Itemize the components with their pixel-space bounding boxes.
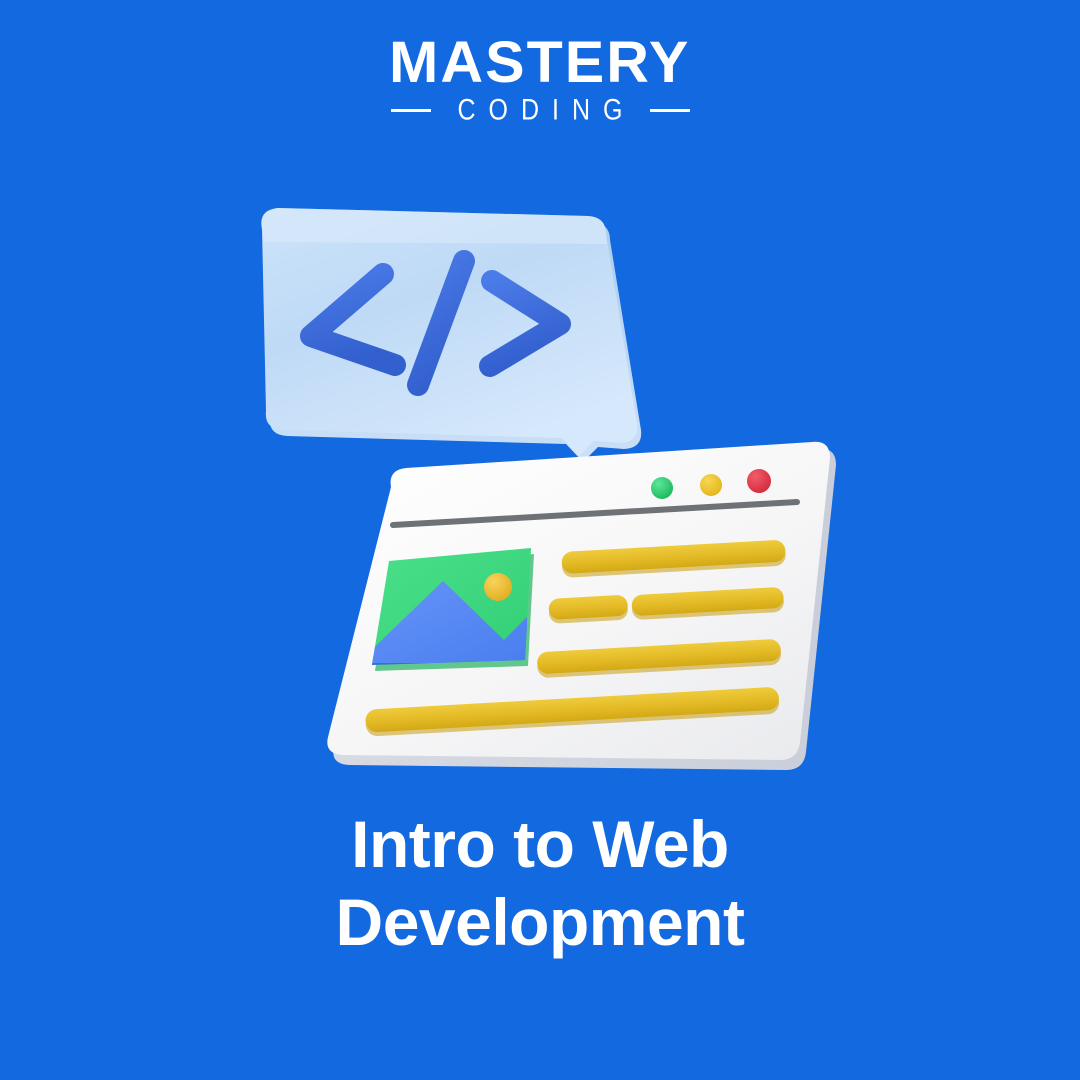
browser-window-icon — [327, 442, 836, 770]
page-title: Intro to Web Development — [0, 806, 1080, 962]
poster-canvas: MASTERY CODING — [0, 0, 1080, 1080]
window-dot-red — [747, 469, 771, 493]
content-text-bars — [365, 540, 786, 737]
window-dot-green — [651, 477, 673, 499]
brand-logo: MASTERY CODING — [0, 34, 1080, 123]
window-dot-yellow — [700, 474, 722, 496]
text-bar — [548, 595, 628, 624]
window-divider — [393, 502, 797, 525]
code-bubble-icon — [261, 208, 641, 462]
text-bar — [561, 540, 786, 578]
page-title-line-2: Development — [90, 884, 990, 962]
brand-subtitle-row: CODING — [391, 98, 690, 123]
brand-subtext: CODING — [445, 96, 636, 126]
horizontal-rule-icon-left — [391, 109, 431, 112]
forward-slash — [418, 261, 464, 385]
image-placeholder-icon — [358, 548, 534, 671]
text-bar — [631, 587, 784, 620]
page-title-line-1: Intro to Web — [90, 806, 990, 884]
left-angle-bracket — [311, 274, 395, 365]
sun-icon — [484, 573, 512, 601]
text-bar — [365, 687, 780, 737]
right-angle-bracket — [490, 281, 560, 366]
text-bar — [537, 639, 782, 679]
brand-wordmark: MASTERY — [389, 34, 690, 92]
horizontal-rule-icon-right — [650, 109, 690, 112]
